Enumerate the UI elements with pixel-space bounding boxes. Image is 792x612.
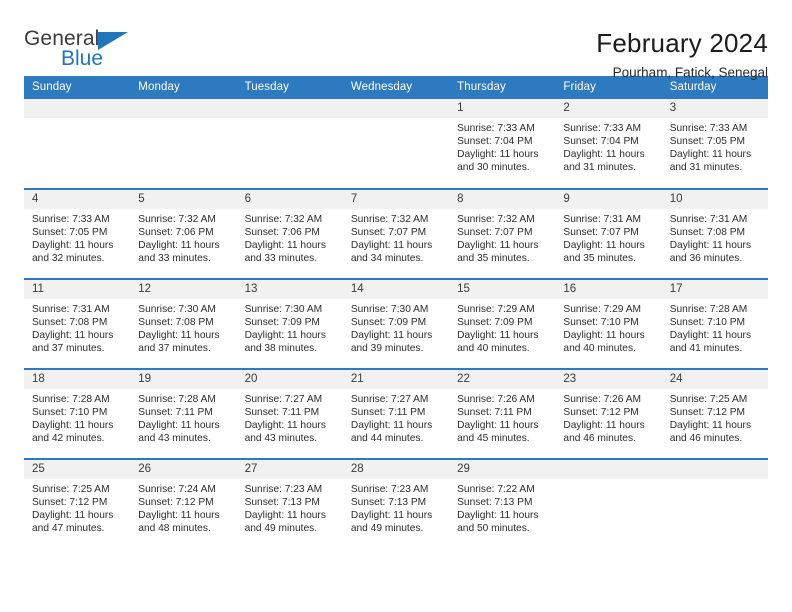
day-sun-details: Sunrise: 7:29 AM Sunset: 7:10 PM Dayligh… (555, 299, 661, 355)
generalblue-logo[interactable]: General Blue (24, 28, 154, 74)
day-number (130, 99, 236, 118)
calendar-empty-cell (662, 459, 768, 549)
calendar-page: General Blue February 2024 Pourham, Fati… (0, 0, 792, 612)
calendar-day-cell[interactable]: 21Sunrise: 7:27 AM Sunset: 7:11 PM Dayli… (343, 369, 449, 459)
day-number: 16 (555, 280, 661, 299)
calendar-day-cell[interactable]: 10Sunrise: 7:31 AM Sunset: 7:08 PM Dayli… (662, 189, 768, 279)
calendar-day-cell[interactable]: 20Sunrise: 7:27 AM Sunset: 7:11 PM Dayli… (237, 369, 343, 459)
calendar-day-cell[interactable]: 2Sunrise: 7:33 AM Sunset: 7:04 PM Daylig… (555, 99, 661, 189)
day-number (555, 460, 661, 479)
calendar-week-row: 1Sunrise: 7:33 AM Sunset: 7:04 PM Daylig… (24, 99, 768, 189)
calendar-day-cell[interactable]: 8Sunrise: 7:32 AM Sunset: 7:07 PM Daylig… (449, 189, 555, 279)
day-number: 7 (343, 190, 449, 209)
title-block: February 2024 Pourham, Fatick, Senegal (596, 28, 768, 84)
calendar-day-cell[interactable]: 17Sunrise: 7:28 AM Sunset: 7:10 PM Dayli… (662, 279, 768, 369)
day-sun-details: Sunrise: 7:33 AM Sunset: 7:05 PM Dayligh… (662, 118, 768, 174)
calendar-day-cell[interactable]: 12Sunrise: 7:30 AM Sunset: 7:08 PM Dayli… (130, 279, 236, 369)
calendar-empty-cell (24, 99, 130, 189)
day-number: 26 (130, 460, 236, 479)
day-number (24, 99, 130, 118)
calendar-day-cell[interactable]: 15Sunrise: 7:29 AM Sunset: 7:09 PM Dayli… (449, 279, 555, 369)
calendar-day-cell[interactable]: 3Sunrise: 7:33 AM Sunset: 7:05 PM Daylig… (662, 99, 768, 189)
calendar-day-cell[interactable]: 7Sunrise: 7:32 AM Sunset: 7:07 PM Daylig… (343, 189, 449, 279)
calendar-empty-cell (555, 459, 661, 549)
day-number: 25 (24, 460, 130, 479)
day-number: 1 (449, 99, 555, 118)
day-sun-details: Sunrise: 7:31 AM Sunset: 7:07 PM Dayligh… (555, 209, 661, 265)
day-sun-details: Sunrise: 7:32 AM Sunset: 7:07 PM Dayligh… (343, 209, 449, 265)
day-number: 9 (555, 190, 661, 209)
day-number: 4 (24, 190, 130, 209)
day-sun-details: Sunrise: 7:33 AM Sunset: 7:04 PM Dayligh… (449, 118, 555, 174)
calendar-day-cell[interactable]: 22Sunrise: 7:26 AM Sunset: 7:11 PM Dayli… (449, 369, 555, 459)
day-sun-details: Sunrise: 7:22 AM Sunset: 7:13 PM Dayligh… (449, 479, 555, 535)
day-number: 23 (555, 370, 661, 389)
calendar-day-cell[interactable]: 5Sunrise: 7:32 AM Sunset: 7:06 PM Daylig… (130, 189, 236, 279)
page-masthead: General Blue February 2024 Pourham, Fati… (24, 0, 768, 76)
day-sun-details: Sunrise: 7:28 AM Sunset: 7:10 PM Dayligh… (24, 389, 130, 445)
weekday-header-tuesday: Tuesday (237, 76, 343, 99)
day-number: 17 (662, 280, 768, 299)
calendar-day-cell[interactable]: 28Sunrise: 7:23 AM Sunset: 7:13 PM Dayli… (343, 459, 449, 549)
calendar-week-row: 11Sunrise: 7:31 AM Sunset: 7:08 PM Dayli… (24, 279, 768, 369)
calendar-day-cell[interactable]: 9Sunrise: 7:31 AM Sunset: 7:07 PM Daylig… (555, 189, 661, 279)
day-sun-details: Sunrise: 7:28 AM Sunset: 7:11 PM Dayligh… (130, 389, 236, 445)
calendar-week-row: 4Sunrise: 7:33 AM Sunset: 7:05 PM Daylig… (24, 189, 768, 279)
day-number: 10 (662, 190, 768, 209)
day-sun-details: Sunrise: 7:33 AM Sunset: 7:05 PM Dayligh… (24, 209, 130, 265)
calendar-day-cell[interactable]: 29Sunrise: 7:22 AM Sunset: 7:13 PM Dayli… (449, 459, 555, 549)
calendar-empty-cell (237, 99, 343, 189)
day-sun-details: Sunrise: 7:32 AM Sunset: 7:07 PM Dayligh… (449, 209, 555, 265)
calendar-day-cell[interactable]: 13Sunrise: 7:30 AM Sunset: 7:09 PM Dayli… (237, 279, 343, 369)
day-number: 22 (449, 370, 555, 389)
calendar-body: 1Sunrise: 7:33 AM Sunset: 7:04 PM Daylig… (24, 99, 768, 549)
page-title: February 2024 (596, 28, 768, 58)
day-sun-details: Sunrise: 7:31 AM Sunset: 7:08 PM Dayligh… (662, 209, 768, 265)
calendar-day-cell[interactable]: 14Sunrise: 7:30 AM Sunset: 7:09 PM Dayli… (343, 279, 449, 369)
day-number: 20 (237, 370, 343, 389)
calendar-day-cell[interactable]: 11Sunrise: 7:31 AM Sunset: 7:08 PM Dayli… (24, 279, 130, 369)
day-number: 19 (130, 370, 236, 389)
day-sun-details: Sunrise: 7:24 AM Sunset: 7:12 PM Dayligh… (130, 479, 236, 535)
day-number: 18 (24, 370, 130, 389)
day-number: 3 (662, 99, 768, 118)
day-number: 6 (237, 190, 343, 209)
day-sun-details: Sunrise: 7:30 AM Sunset: 7:08 PM Dayligh… (130, 299, 236, 355)
day-sun-details: Sunrise: 7:25 AM Sunset: 7:12 PM Dayligh… (24, 479, 130, 535)
day-sun-details: Sunrise: 7:25 AM Sunset: 7:12 PM Dayligh… (662, 389, 768, 445)
calendar-day-cell[interactable]: 27Sunrise: 7:23 AM Sunset: 7:13 PM Dayli… (237, 459, 343, 549)
day-sun-details: Sunrise: 7:32 AM Sunset: 7:06 PM Dayligh… (130, 209, 236, 265)
day-number (662, 460, 768, 479)
day-number: 12 (130, 280, 236, 299)
calendar-day-cell[interactable]: 6Sunrise: 7:32 AM Sunset: 7:06 PM Daylig… (237, 189, 343, 279)
day-number: 2 (555, 99, 661, 118)
calendar-day-cell[interactable]: 16Sunrise: 7:29 AM Sunset: 7:10 PM Dayli… (555, 279, 661, 369)
day-number: 13 (237, 280, 343, 299)
day-sun-details: Sunrise: 7:26 AM Sunset: 7:12 PM Dayligh… (555, 389, 661, 445)
calendar-day-cell[interactable]: 18Sunrise: 7:28 AM Sunset: 7:10 PM Dayli… (24, 369, 130, 459)
day-sun-details: Sunrise: 7:26 AM Sunset: 7:11 PM Dayligh… (449, 389, 555, 445)
day-sun-details: Sunrise: 7:29 AM Sunset: 7:09 PM Dayligh… (449, 299, 555, 355)
weekday-header-sunday: Sunday (24, 76, 130, 99)
day-number: 27 (237, 460, 343, 479)
day-number: 5 (130, 190, 236, 209)
day-number: 11 (24, 280, 130, 299)
day-sun-details: Sunrise: 7:30 AM Sunset: 7:09 PM Dayligh… (343, 299, 449, 355)
calendar-day-cell[interactable]: 24Sunrise: 7:25 AM Sunset: 7:12 PM Dayli… (662, 369, 768, 459)
calendar-day-cell[interactable]: 23Sunrise: 7:26 AM Sunset: 7:12 PM Dayli… (555, 369, 661, 459)
day-number: 29 (449, 460, 555, 479)
day-sun-details: Sunrise: 7:33 AM Sunset: 7:04 PM Dayligh… (555, 118, 661, 174)
day-number: 28 (343, 460, 449, 479)
day-sun-details: Sunrise: 7:31 AM Sunset: 7:08 PM Dayligh… (24, 299, 130, 355)
calendar-week-row: 25Sunrise: 7:25 AM Sunset: 7:12 PM Dayli… (24, 459, 768, 549)
weekday-header-monday: Monday (130, 76, 236, 99)
day-number: 15 (449, 280, 555, 299)
day-sun-details: Sunrise: 7:23 AM Sunset: 7:13 PM Dayligh… (237, 479, 343, 535)
calendar-empty-cell (130, 99, 236, 189)
logo-text-blue: Blue (61, 48, 103, 70)
calendar-day-cell[interactable]: 26Sunrise: 7:24 AM Sunset: 7:12 PM Dayli… (130, 459, 236, 549)
day-sun-details: Sunrise: 7:28 AM Sunset: 7:10 PM Dayligh… (662, 299, 768, 355)
calendar-table: Sunday Monday Tuesday Wednesday Thursday… (24, 76, 768, 549)
day-number: 14 (343, 280, 449, 299)
calendar-day-cell[interactable]: 19Sunrise: 7:28 AM Sunset: 7:11 PM Dayli… (130, 369, 236, 459)
day-number (343, 99, 449, 118)
calendar-day-cell[interactable]: 1Sunrise: 7:33 AM Sunset: 7:04 PM Daylig… (449, 99, 555, 189)
calendar-empty-cell (343, 99, 449, 189)
day-number: 21 (343, 370, 449, 389)
day-number: 8 (449, 190, 555, 209)
weekday-header-wednesday: Wednesday (343, 76, 449, 99)
day-number: 24 (662, 370, 768, 389)
day-sun-details: Sunrise: 7:27 AM Sunset: 7:11 PM Dayligh… (343, 389, 449, 445)
calendar-day-cell[interactable]: 25Sunrise: 7:25 AM Sunset: 7:12 PM Dayli… (24, 459, 130, 549)
weekday-header-thursday: Thursday (449, 76, 555, 99)
day-sun-details: Sunrise: 7:32 AM Sunset: 7:06 PM Dayligh… (237, 209, 343, 265)
calendar-week-row: 18Sunrise: 7:28 AM Sunset: 7:10 PM Dayli… (24, 369, 768, 459)
day-number (237, 99, 343, 118)
calendar-day-cell[interactable]: 4Sunrise: 7:33 AM Sunset: 7:05 PM Daylig… (24, 189, 130, 279)
day-sun-details: Sunrise: 7:27 AM Sunset: 7:11 PM Dayligh… (237, 389, 343, 445)
day-sun-details: Sunrise: 7:23 AM Sunset: 7:13 PM Dayligh… (343, 479, 449, 535)
day-sun-details: Sunrise: 7:30 AM Sunset: 7:09 PM Dayligh… (237, 299, 343, 355)
